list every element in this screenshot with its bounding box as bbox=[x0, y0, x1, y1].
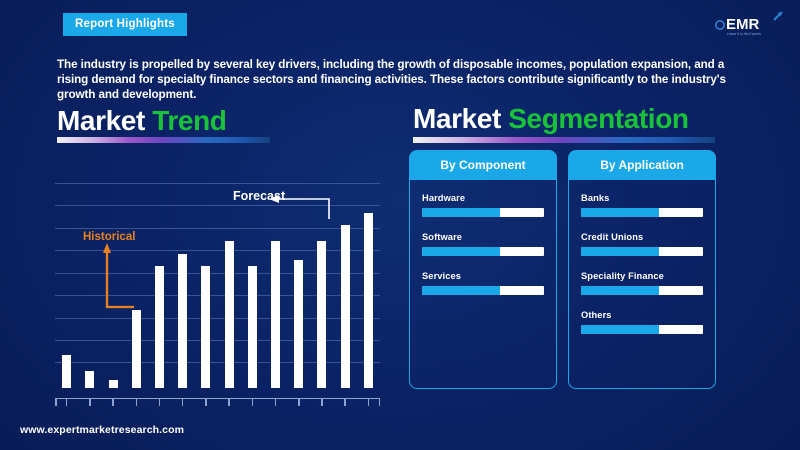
segmentation-progress-track bbox=[581, 247, 703, 256]
gridline bbox=[55, 273, 380, 274]
chart-annotation-lines bbox=[55, 183, 380, 388]
forecast-annotation-label: Forecast bbox=[233, 189, 285, 203]
segmentation-panel-title-by-application: By Application bbox=[568, 150, 716, 180]
axis-tick bbox=[205, 398, 207, 406]
historical-annotation-label: Historical bbox=[83, 231, 135, 243]
axis-tick bbox=[298, 398, 300, 406]
chart-bar bbox=[225, 241, 234, 388]
heading-word-market: Market bbox=[57, 105, 145, 136]
chart-bar bbox=[201, 266, 210, 388]
chart-bar bbox=[132, 310, 141, 388]
gridline bbox=[55, 228, 380, 229]
segmentation-item-label: Others bbox=[581, 310, 703, 320]
segmentation-progress-fill bbox=[581, 208, 659, 217]
chart-bar bbox=[85, 371, 94, 388]
chart-bar bbox=[109, 380, 118, 388]
gridline bbox=[55, 250, 380, 251]
segmentation-panel-by-component: By Component HardwareSoftwareServices bbox=[409, 150, 557, 389]
segmentation-progress-track bbox=[422, 286, 544, 295]
segmentation-progress-fill bbox=[422, 208, 500, 217]
segmentation-progress-track bbox=[422, 247, 544, 256]
segmentation-item: Hardware bbox=[422, 193, 544, 217]
segmentation-item: Speciality Finance bbox=[581, 271, 703, 295]
chart-bar bbox=[178, 254, 187, 388]
axis-tick bbox=[55, 398, 57, 406]
axis-tick bbox=[89, 398, 91, 406]
segmentation-item-label: Software bbox=[422, 232, 544, 242]
segmentation-panel-by-application: By Application BanksCredit UnionsSpecial… bbox=[568, 150, 716, 389]
segmentation-panel-body-by-component: HardwareSoftwareServices bbox=[409, 180, 557, 389]
chart-bar bbox=[317, 241, 326, 388]
chart-bar bbox=[364, 213, 373, 388]
market-trend-bar-chart: Historical Forecast bbox=[55, 183, 380, 388]
intro-paragraph: The industry is propelled by several key… bbox=[57, 57, 757, 103]
segmentation-progress-fill bbox=[422, 247, 500, 256]
segmentation-item: Banks bbox=[581, 193, 703, 217]
svg-text:Leave It to the Experts: Leave It to the Experts bbox=[727, 32, 761, 36]
segmentation-progress-fill bbox=[581, 325, 659, 334]
axis-tick bbox=[252, 398, 254, 406]
market-trend-heading-rule bbox=[57, 137, 270, 143]
chart-axis-line bbox=[55, 398, 380, 400]
gridline bbox=[55, 205, 380, 206]
segmentation-progress-track bbox=[581, 325, 703, 334]
axis-tick bbox=[321, 398, 323, 406]
segmentation-item: Others bbox=[581, 310, 703, 334]
segmentation-progress-fill bbox=[581, 286, 659, 295]
market-trend-heading: Market Trend bbox=[57, 105, 227, 137]
heading-word-trend: Trend bbox=[152, 105, 226, 136]
segmentation-progress-track bbox=[581, 208, 703, 217]
axis-tick bbox=[275, 398, 277, 406]
axis-tick bbox=[112, 398, 114, 406]
axis-tick bbox=[368, 398, 370, 406]
emr-logo: EMR Leave It to the Experts bbox=[714, 8, 786, 40]
report-highlights-badge: Report Highlights bbox=[63, 13, 187, 36]
segmentation-item-label: Services bbox=[422, 271, 544, 281]
axis-tick bbox=[182, 398, 184, 406]
segmentation-item: Credit Unions bbox=[581, 232, 703, 256]
segmentation-panel-title-by-component: By Component bbox=[409, 150, 557, 180]
chart-bar bbox=[341, 225, 350, 388]
axis-tick bbox=[66, 398, 68, 406]
axis-tick bbox=[344, 398, 346, 406]
segmentation-item: Software bbox=[422, 232, 544, 256]
footer-website-url[interactable]: www.expertmarketresearch.com bbox=[20, 424, 184, 436]
svg-text:EMR: EMR bbox=[726, 16, 760, 33]
gridline bbox=[55, 183, 380, 184]
chart-bar bbox=[155, 266, 164, 388]
segmentation-item-label: Hardware bbox=[422, 193, 544, 203]
axis-tick bbox=[228, 398, 230, 406]
market-segmentation-heading: Market Segmentation bbox=[413, 103, 689, 135]
gridline bbox=[55, 340, 380, 341]
segmentation-progress-track bbox=[422, 208, 544, 217]
segmentation-progress-track bbox=[581, 286, 703, 295]
axis-tick bbox=[159, 398, 161, 406]
segmentation-item-label: Banks bbox=[581, 193, 703, 203]
market-segmentation-heading-rule bbox=[413, 137, 715, 143]
segmentation-item: Services bbox=[422, 271, 544, 295]
heading-word-market-2: Market bbox=[413, 103, 501, 134]
gridline bbox=[55, 362, 380, 363]
chart-bar bbox=[62, 355, 71, 388]
segmentation-panel-body-by-application: BanksCredit UnionsSpeciality FinanceOthe… bbox=[568, 180, 716, 389]
heading-word-segmentation: Segmentation bbox=[508, 103, 688, 134]
segmentation-progress-fill bbox=[581, 247, 659, 256]
segmentation-progress-fill bbox=[422, 286, 500, 295]
axis-tick bbox=[379, 398, 381, 406]
chart-bar bbox=[271, 241, 280, 388]
segmentation-item-label: Credit Unions bbox=[581, 232, 703, 242]
gridline bbox=[55, 318, 380, 319]
chart-bar bbox=[294, 260, 303, 388]
emr-logo-mark: EMR Leave It to the Experts bbox=[714, 8, 786, 40]
chart-bar bbox=[248, 266, 257, 388]
gridline bbox=[55, 295, 380, 296]
segmentation-item-label: Speciality Finance bbox=[581, 271, 703, 281]
axis-tick bbox=[136, 398, 138, 406]
